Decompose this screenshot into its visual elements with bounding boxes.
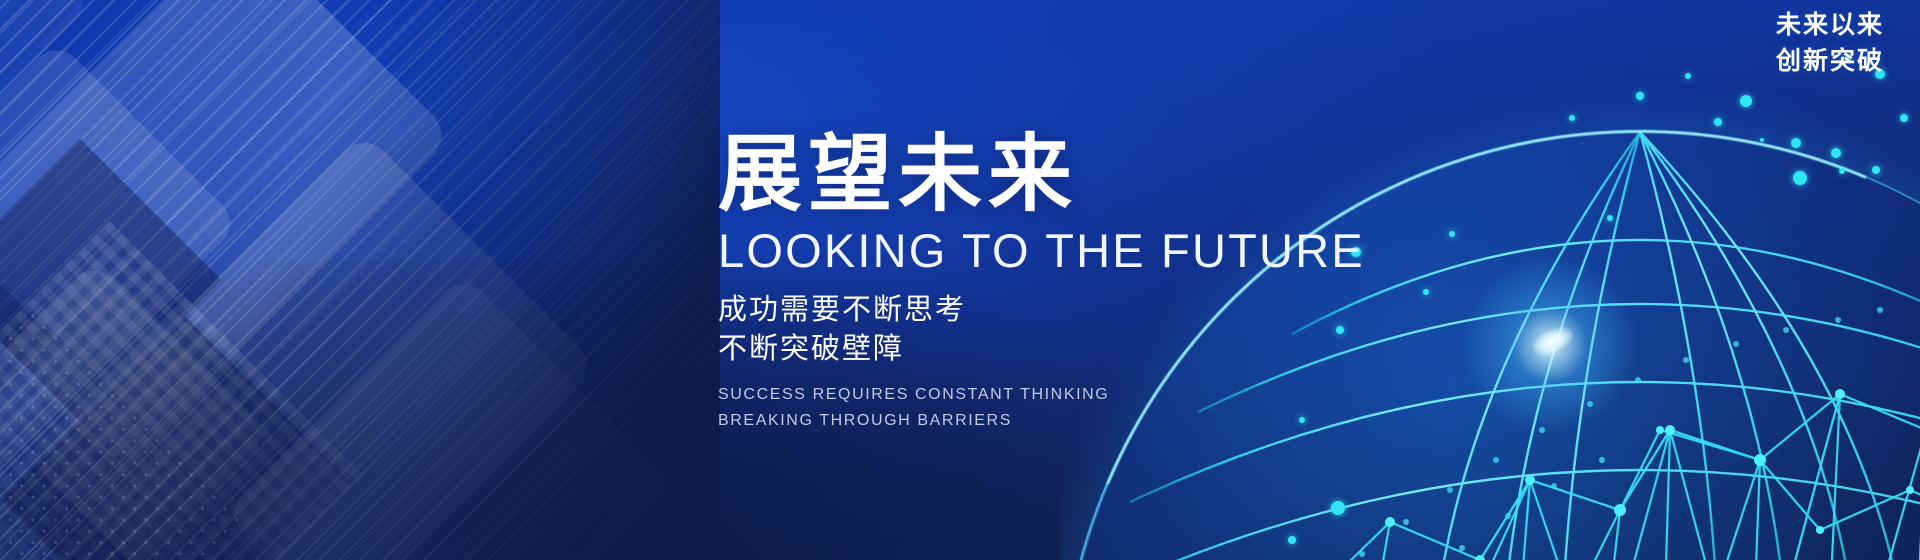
corner-slogan: 未来以来 创新突破 — [1776, 8, 1884, 79]
tagline-en-line1: SUCCESS REQUIRES CONSTANT THINKING — [718, 382, 1438, 408]
particle-dot-icon — [1714, 118, 1722, 126]
particle-dot-icon — [1760, 138, 1764, 142]
particle-dot-icon — [1900, 114, 1908, 122]
corner-slogan-line2: 创新突破 — [1776, 44, 1884, 80]
page-subtitle-en: LOOKING TO THE FUTURE — [718, 226, 1438, 275]
particle-dot-icon — [1449, 231, 1455, 237]
particle-dot-icon — [1607, 215, 1613, 221]
particle-dot-icon — [1839, 168, 1845, 174]
tagline-cn-line1: 成功需要不断思考 — [718, 291, 1438, 330]
headline-block: 展望未来 LOOKING TO THE FUTURE 成功需要不断思考 不断突破… — [718, 132, 1438, 433]
particle-dot-icon — [1331, 501, 1345, 515]
particle-dot-icon — [1685, 73, 1691, 79]
tagline-en-block: SUCCESS REQUIRES CONSTANT THINKING BREAK… — [718, 382, 1438, 434]
particle-dot-icon — [1636, 92, 1644, 100]
particle-dot-icon — [1740, 95, 1752, 107]
left-pattern-fade-mask — [0, 0, 720, 560]
tagline-en-line2: BREAKING THROUGH BARRIERS — [718, 408, 1438, 434]
particle-dot-icon — [1793, 171, 1807, 185]
tagline-cn-line2: 不断突破壁障 — [718, 330, 1438, 369]
left-geometric-pattern — [0, 0, 720, 560]
corner-slogan-line1: 未来以来 — [1776, 8, 1884, 44]
particle-dot-icon — [1872, 166, 1880, 174]
particle-dot-icon — [1831, 148, 1841, 158]
particle-dot-icon — [1288, 536, 1296, 544]
promotional-banner: 未来以来 创新突破 展望未来 LOOKING TO THE FUTURE 成功需… — [0, 0, 1920, 560]
page-title: 展望未来 — [718, 132, 1438, 216]
particle-dot-icon — [1569, 115, 1575, 121]
particle-dot-icon — [1791, 138, 1801, 148]
